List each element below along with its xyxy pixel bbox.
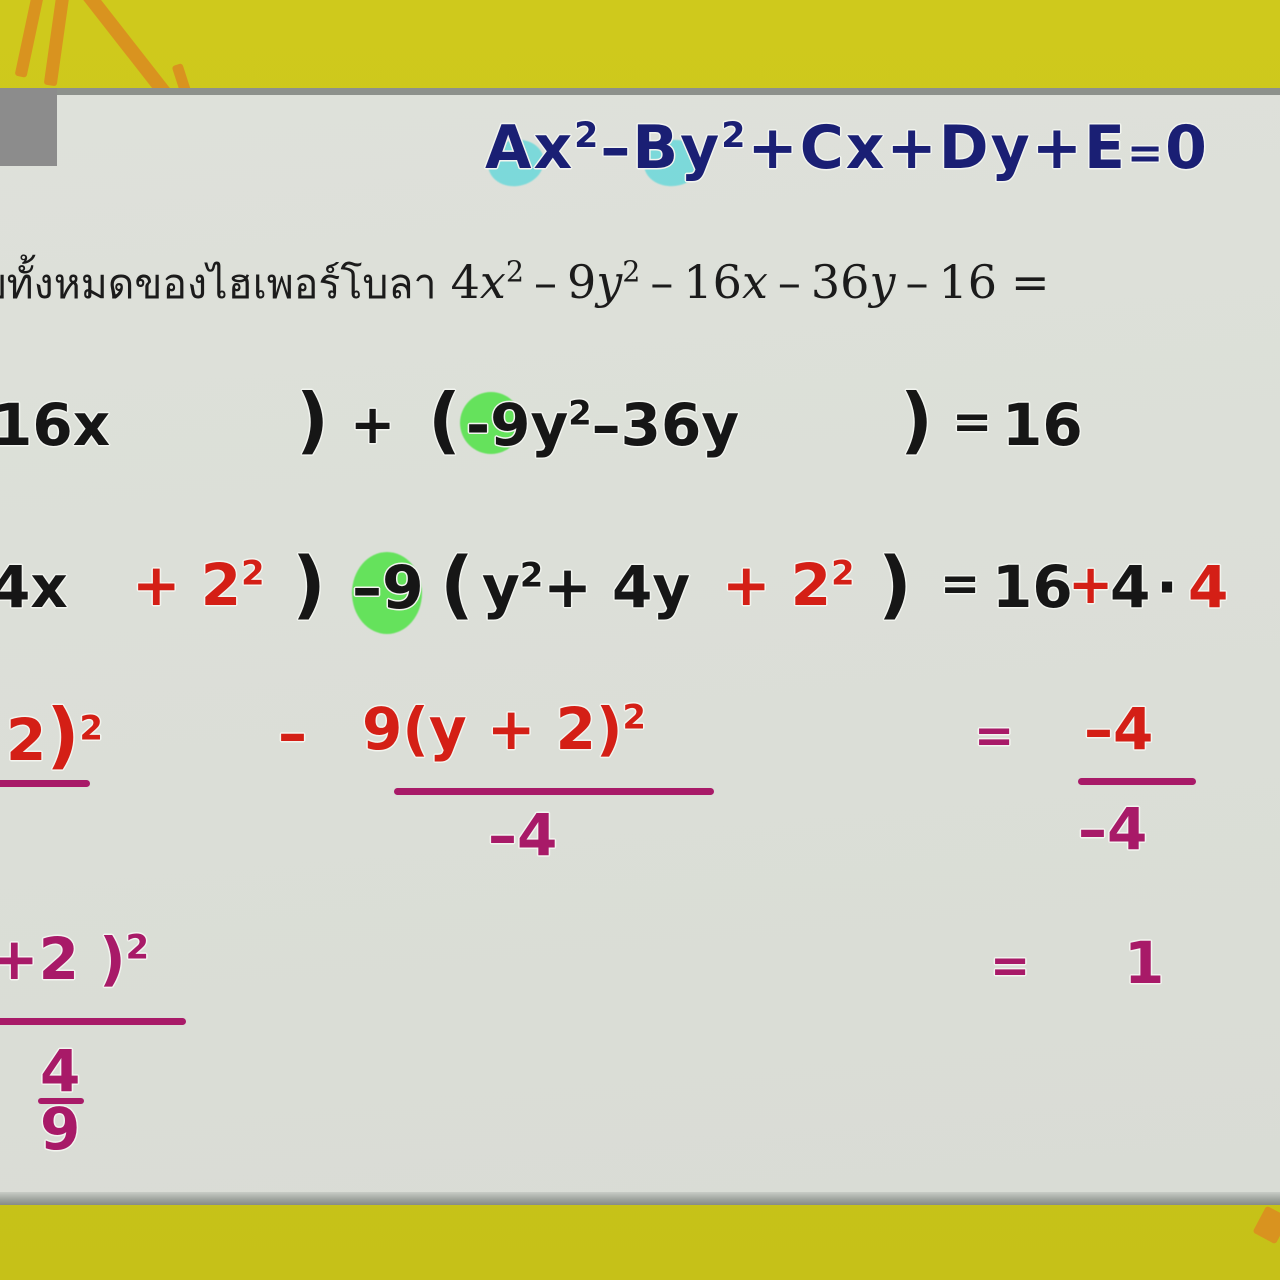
var-y-1: y	[596, 255, 622, 309]
standard-num-text: +2 )	[0, 925, 126, 993]
coef-C: C	[800, 113, 846, 183]
coef-D: D	[939, 113, 991, 183]
divide-minus: –	[278, 704, 307, 762]
csq-open-paren-2: (	[440, 548, 474, 622]
y-squared-exponent: 2	[721, 116, 747, 156]
grouping-close-paren-1: )	[296, 384, 329, 456]
coef-16x: 16	[683, 255, 742, 309]
whiteboard-bottom-edge	[0, 1192, 1280, 1205]
y-linear: y	[991, 113, 1032, 183]
divide-left-exp: 2	[80, 709, 103, 748]
plus-sign-1: +	[747, 113, 799, 183]
grouping-equals: =	[952, 398, 992, 446]
divide-fraction-bar	[394, 788, 714, 795]
coef-A: A	[485, 113, 533, 183]
coef-4: 4	[451, 255, 480, 309]
x-linear: x	[846, 113, 887, 183]
red-plus-two: + 2	[132, 551, 241, 619]
divide-fraction-denominator: –4	[488, 806, 557, 864]
exp-2-a: 2	[506, 256, 524, 289]
csq-rhs-dot: ·	[1156, 558, 1178, 616]
grouping-neg9-y-squared-minus36y: -9y2–36y	[466, 396, 739, 454]
neg-nine: -9	[466, 391, 530, 459]
general-conic-form: Ax2–By2+Cx+Dy+E=0	[485, 118, 1209, 178]
question-equation: 4x2–9y2–16x–36y–16=	[451, 255, 1050, 309]
minus-36y: –36y	[592, 391, 740, 459]
whiteboard-corner-block	[0, 88, 57, 166]
plus-sign-2: +	[886, 113, 938, 183]
csq-y-squared-plus-4y: y2+ 4y	[482, 558, 690, 616]
csq-close-paren-1: )	[292, 548, 326, 622]
plus-sign-3: +	[1032, 113, 1084, 183]
divide-left-tail: 2)2	[6, 700, 103, 773]
y-exponent: 2	[568, 394, 591, 433]
x-squared-exponent: 2	[574, 116, 600, 156]
divide-left-num: 2	[6, 706, 46, 774]
minus-1: –	[534, 255, 557, 309]
csq-y-exp: 2	[520, 556, 543, 595]
y-squared-base: y	[680, 113, 721, 183]
x-squared-base: x	[533, 113, 574, 183]
divide-left-fraction-bar	[0, 780, 90, 787]
standard-denominator-denominator: 9	[40, 1100, 80, 1158]
csq-red-plus-two-a: + 22	[132, 556, 265, 614]
var-y-2: y	[869, 255, 895, 309]
standard-fraction-bar	[0, 1018, 186, 1025]
exp-2-b: 2	[622, 256, 640, 289]
csq-rhs-plus: +	[1068, 558, 1113, 612]
grouping-open-paren-2: (	[428, 384, 461, 456]
minus-4: –	[905, 255, 928, 309]
red-plus-two-b-exp: 2	[831, 554, 854, 593]
standard-num-exp: 2	[126, 928, 149, 967]
csq-y-base: y	[482, 553, 520, 621]
var-x-2: x	[742, 255, 768, 309]
minus-3: –	[778, 255, 801, 309]
standard-denominator-numerator: 4	[40, 1042, 80, 1100]
csq-rhs-four: 4	[1110, 558, 1150, 616]
grouping-close-paren-2: )	[900, 384, 933, 456]
csq-equals: =	[940, 560, 980, 608]
equals-sign: =	[1127, 129, 1165, 179]
divide-fraction-numerator: 9(y + 2)2	[362, 700, 646, 758]
grouping-plus: +	[350, 398, 395, 452]
divide-num-exp: 2	[623, 698, 646, 737]
csq-left-tail: 4x	[0, 558, 68, 616]
csq-rhs-four-red: 4	[1188, 558, 1228, 616]
y-base: y	[530, 391, 568, 459]
red-plus-two-exp: 2	[241, 554, 264, 593]
zero: 0	[1165, 113, 1209, 183]
red-plus-two-b: + 2	[722, 551, 831, 619]
screenshot-frame: Ax2–By2+Cx+Dy+E=0 อบทั้งหมดของไฮเพอร์โบล…	[0, 0, 1280, 1280]
standard-rhs: 1	[1124, 934, 1164, 992]
minus-sign: –	[600, 113, 632, 183]
divide-num-text: 9(y + 2)	[362, 695, 623, 763]
divide-rhs-fraction-bar	[1078, 778, 1196, 785]
grouping-left-tail: 16x	[0, 396, 110, 454]
var-x-1: x	[480, 255, 506, 309]
divide-left-paren: )	[46, 694, 79, 778]
csq-close-paren-2: )	[878, 548, 912, 622]
coef-B: B	[632, 113, 680, 183]
standard-numerator: +2 )2	[0, 930, 149, 988]
csq-red-plus-two-b: + 22	[722, 556, 855, 614]
standard-equals: =	[990, 942, 1030, 990]
equals-question: =	[1011, 255, 1050, 309]
csq-plus-4y: + 4y	[543, 553, 690, 621]
minus-2: –	[650, 255, 673, 309]
grouping-rhs: 16	[1002, 396, 1083, 454]
const-16: 16	[938, 255, 997, 309]
csq-neg-nine: –9	[352, 558, 424, 618]
divide-equals: =	[974, 712, 1014, 760]
whiteboard-top-edge	[0, 88, 1280, 95]
csq-rhs-sixteen: 16	[992, 558, 1073, 616]
coef-36y: 36	[811, 255, 870, 309]
coef-E: E	[1084, 113, 1127, 183]
divide-rhs-numerator: –4	[1084, 700, 1153, 758]
coef-9: 9	[567, 255, 596, 309]
question-thai-text: อบทั้งหมดของไฮเพอร์โบลา	[0, 260, 437, 308]
question-line: อบทั้งหมดของไฮเพอร์โบลา4x2–9y2–16x–36y–1…	[0, 252, 1050, 317]
divide-rhs-denominator: –4	[1078, 800, 1147, 858]
